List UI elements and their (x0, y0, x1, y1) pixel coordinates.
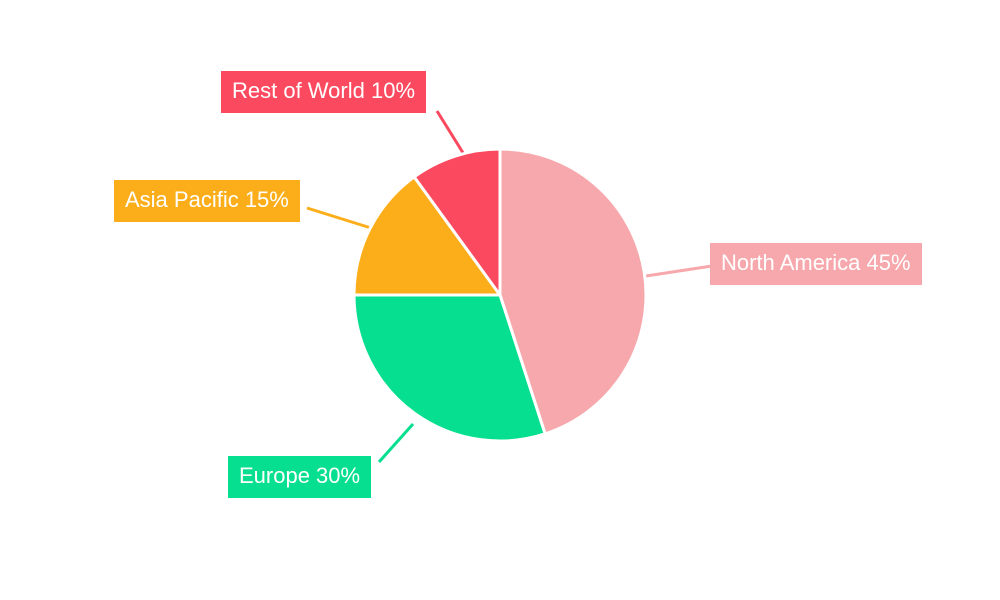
pie-label-rest-of-world-text: Rest of World 10% (232, 78, 415, 103)
pie-label-rest-of-world: Rest of World 10% (221, 71, 426, 113)
leader-line-rest-of-world (437, 111, 465, 156)
pie-label-asia-pacific: Asia Pacific 15% (114, 180, 300, 222)
pie-label-north-america-text: North America 45% (721, 250, 911, 275)
pie-label-europe: Europe 30% (228, 456, 371, 498)
leader-line-europe (379, 424, 413, 462)
pie-chart-figure: North America 45% Europe 30% Asia Pacifi… (0, 0, 1000, 600)
leader-line-asia-pacific (307, 208, 371, 228)
pie-chart-canvas (0, 0, 1000, 600)
pie-label-north-america: North America 45% (710, 243, 922, 285)
leader-line-north-america (646, 266, 712, 276)
pie-label-asia-pacific-text: Asia Pacific 15% (125, 187, 289, 212)
pie-label-europe-text: Europe 30% (239, 463, 360, 488)
pie-slices (354, 149, 646, 441)
